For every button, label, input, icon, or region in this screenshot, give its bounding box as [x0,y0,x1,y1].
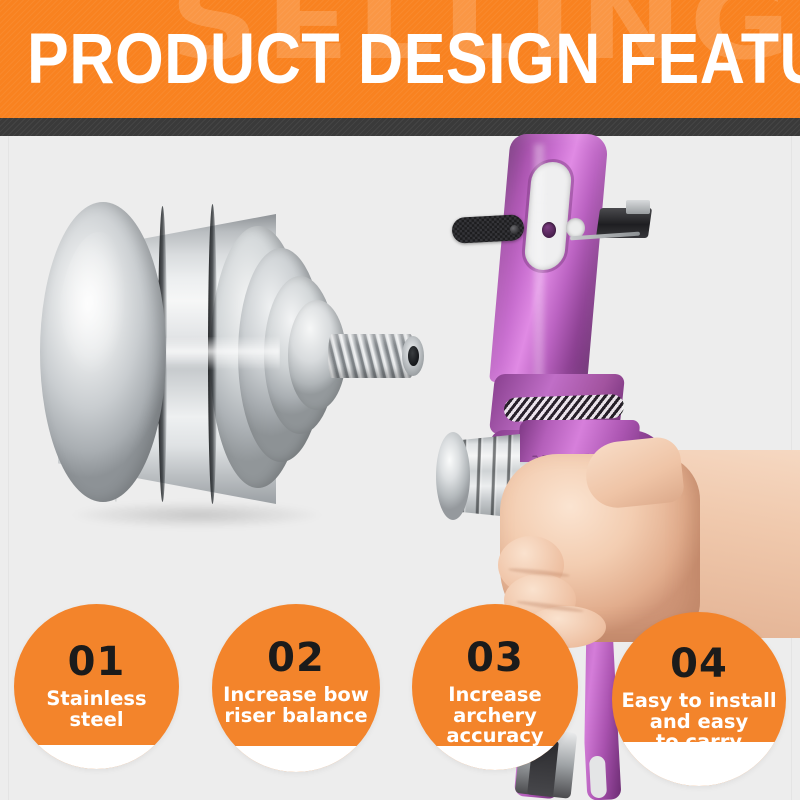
feature-number: 02 [212,638,380,678]
feature-circle-03[interactable]: 03 Increase archeryaccuracy [412,604,578,770]
mounted-weight-face [436,432,470,520]
pad-screw [510,225,519,234]
arrow-rest-bolt [626,200,650,214]
feature-content: 01 Stainless steel [14,642,179,730]
feature-content: 02 Increase bowriser balance [212,638,380,726]
riser-mount-hole-1 [542,222,556,238]
feature-circle-lower-arc [212,746,380,772]
feature-circle-04[interactable]: 04 Easy to installand easyto carry [612,612,786,786]
feature-number: 01 [14,642,179,682]
stud-hex-socket [408,346,419,366]
feature-label: Stainless steel [14,689,179,730]
feature-content: 03 Increase archeryaccuracy [412,638,578,747]
feature-number: 03 [412,638,578,678]
weight-front-face [40,202,166,502]
feature-label: Increase archeryaccuracy [412,685,578,747]
thumb [583,435,685,511]
product-feature-banner: SELLING PRODUCT DESIGN FEATURES [0,0,800,800]
grip-wrap-strap [504,394,625,422]
header-banner: SELLING PRODUCT DESIGN FEATURES [0,0,800,118]
feature-label: Easy to installand easyto carry [612,691,786,753]
feature-content: 04 Easy to installand easyto carry [612,644,786,753]
stainless-steel-weight-photo [32,184,432,534]
weight-drop-shadow [72,502,322,528]
limb-pocket-slot [589,756,607,799]
page-title: PRODUCT DESIGN FEATURES [27,23,800,95]
feature-circle-01[interactable]: 01 Stainless steel [14,604,179,769]
feature-circle-lower-arc [14,745,179,769]
feature-label: Increase bowriser balance [212,685,380,726]
feature-circle-lower-arc [412,746,578,770]
feature-circle-02[interactable]: 02 Increase bowriser balance [212,604,380,772]
feature-number: 04 [612,644,786,684]
